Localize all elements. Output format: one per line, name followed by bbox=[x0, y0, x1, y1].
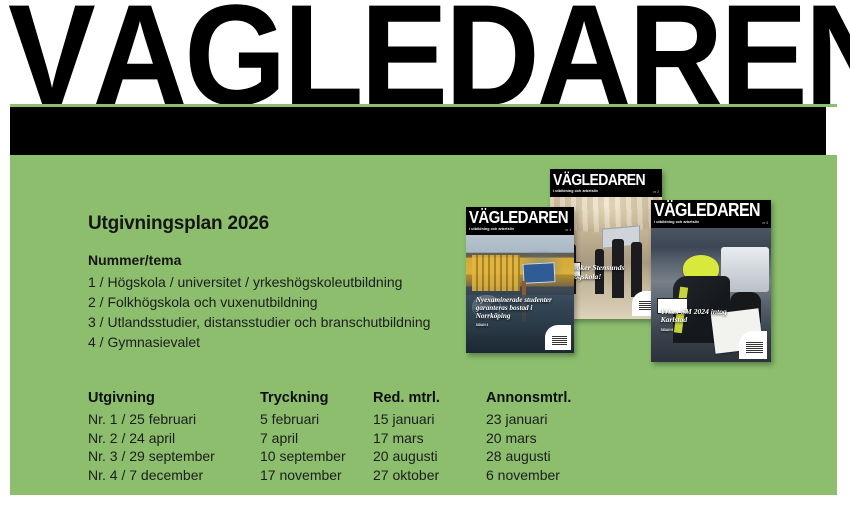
masthead-black-band: i utbildning och arbetsliv 2026 bbox=[10, 107, 826, 155]
cover-subtitle: i utbildning och arbetsliv bbox=[654, 220, 699, 225]
cover-masthead: VÄGLEDAREN i utbildning och arbetsliv nr… bbox=[550, 169, 662, 197]
cover-headline: Yrkes-SM 2024 intog Karlstad SIDAN 6 bbox=[661, 308, 745, 333]
magazine-cover-gallery: VÄGLEDAREN i utbildning och arbetsliv nr… bbox=[10, 155, 837, 495]
cover-masthead: VÄGLEDAREN i utbildning och arbetsliv nr… bbox=[466, 207, 574, 235]
cover-logo: VÄGLEDAREN bbox=[654, 202, 768, 219]
cover-logo: VÄGLEDAREN bbox=[553, 171, 659, 188]
cover-subtitle: i utbildning och arbetsliv bbox=[469, 227, 514, 232]
cover-publisher-badge bbox=[739, 331, 768, 359]
cover-kicker: SIDAN 6 bbox=[661, 327, 745, 333]
cover-kicker: SIDAN 4 bbox=[476, 322, 556, 328]
cover-publisher-badge bbox=[545, 325, 571, 350]
magazine-cover-1: VÄGLEDAREN i utbildning och arbetsliv nr… bbox=[466, 207, 574, 353]
cover-headline: Nyexaminerade studenter garanteras bosta… bbox=[476, 296, 556, 328]
magazine-cover-3: VÄGLEDAREN i utbildning och arbetsliv nr… bbox=[651, 200, 771, 362]
cover-issue-number: nr 1 bbox=[566, 228, 572, 232]
cover-masthead: VÄGLEDAREN i utbildning och arbetsliv nr… bbox=[651, 200, 771, 228]
poster-root: VÄGLEDAREN i utbildning och arbetsliv 20… bbox=[0, 0, 850, 507]
cover-headline-text: Yrkes-SM 2024 intog Karlstad bbox=[661, 307, 727, 325]
cover-headline-text: Nyexaminerade studenter garanteras bosta… bbox=[476, 296, 552, 320]
cover-issue-number: nr 2 bbox=[654, 190, 660, 194]
cover-issue-number: nr 3 bbox=[763, 221, 769, 225]
green-body-panel: Utgivningsplan 2026 Nummer/tema 1 / Högs… bbox=[10, 155, 837, 495]
cover-subtitle: i utbildning och arbetsliv bbox=[553, 189, 598, 194]
cover-logo: VÄGLEDAREN bbox=[469, 209, 571, 226]
photo-sign-shape bbox=[523, 262, 556, 284]
masthead: VÄGLEDAREN i utbildning och arbetsliv 20… bbox=[0, 0, 850, 158]
